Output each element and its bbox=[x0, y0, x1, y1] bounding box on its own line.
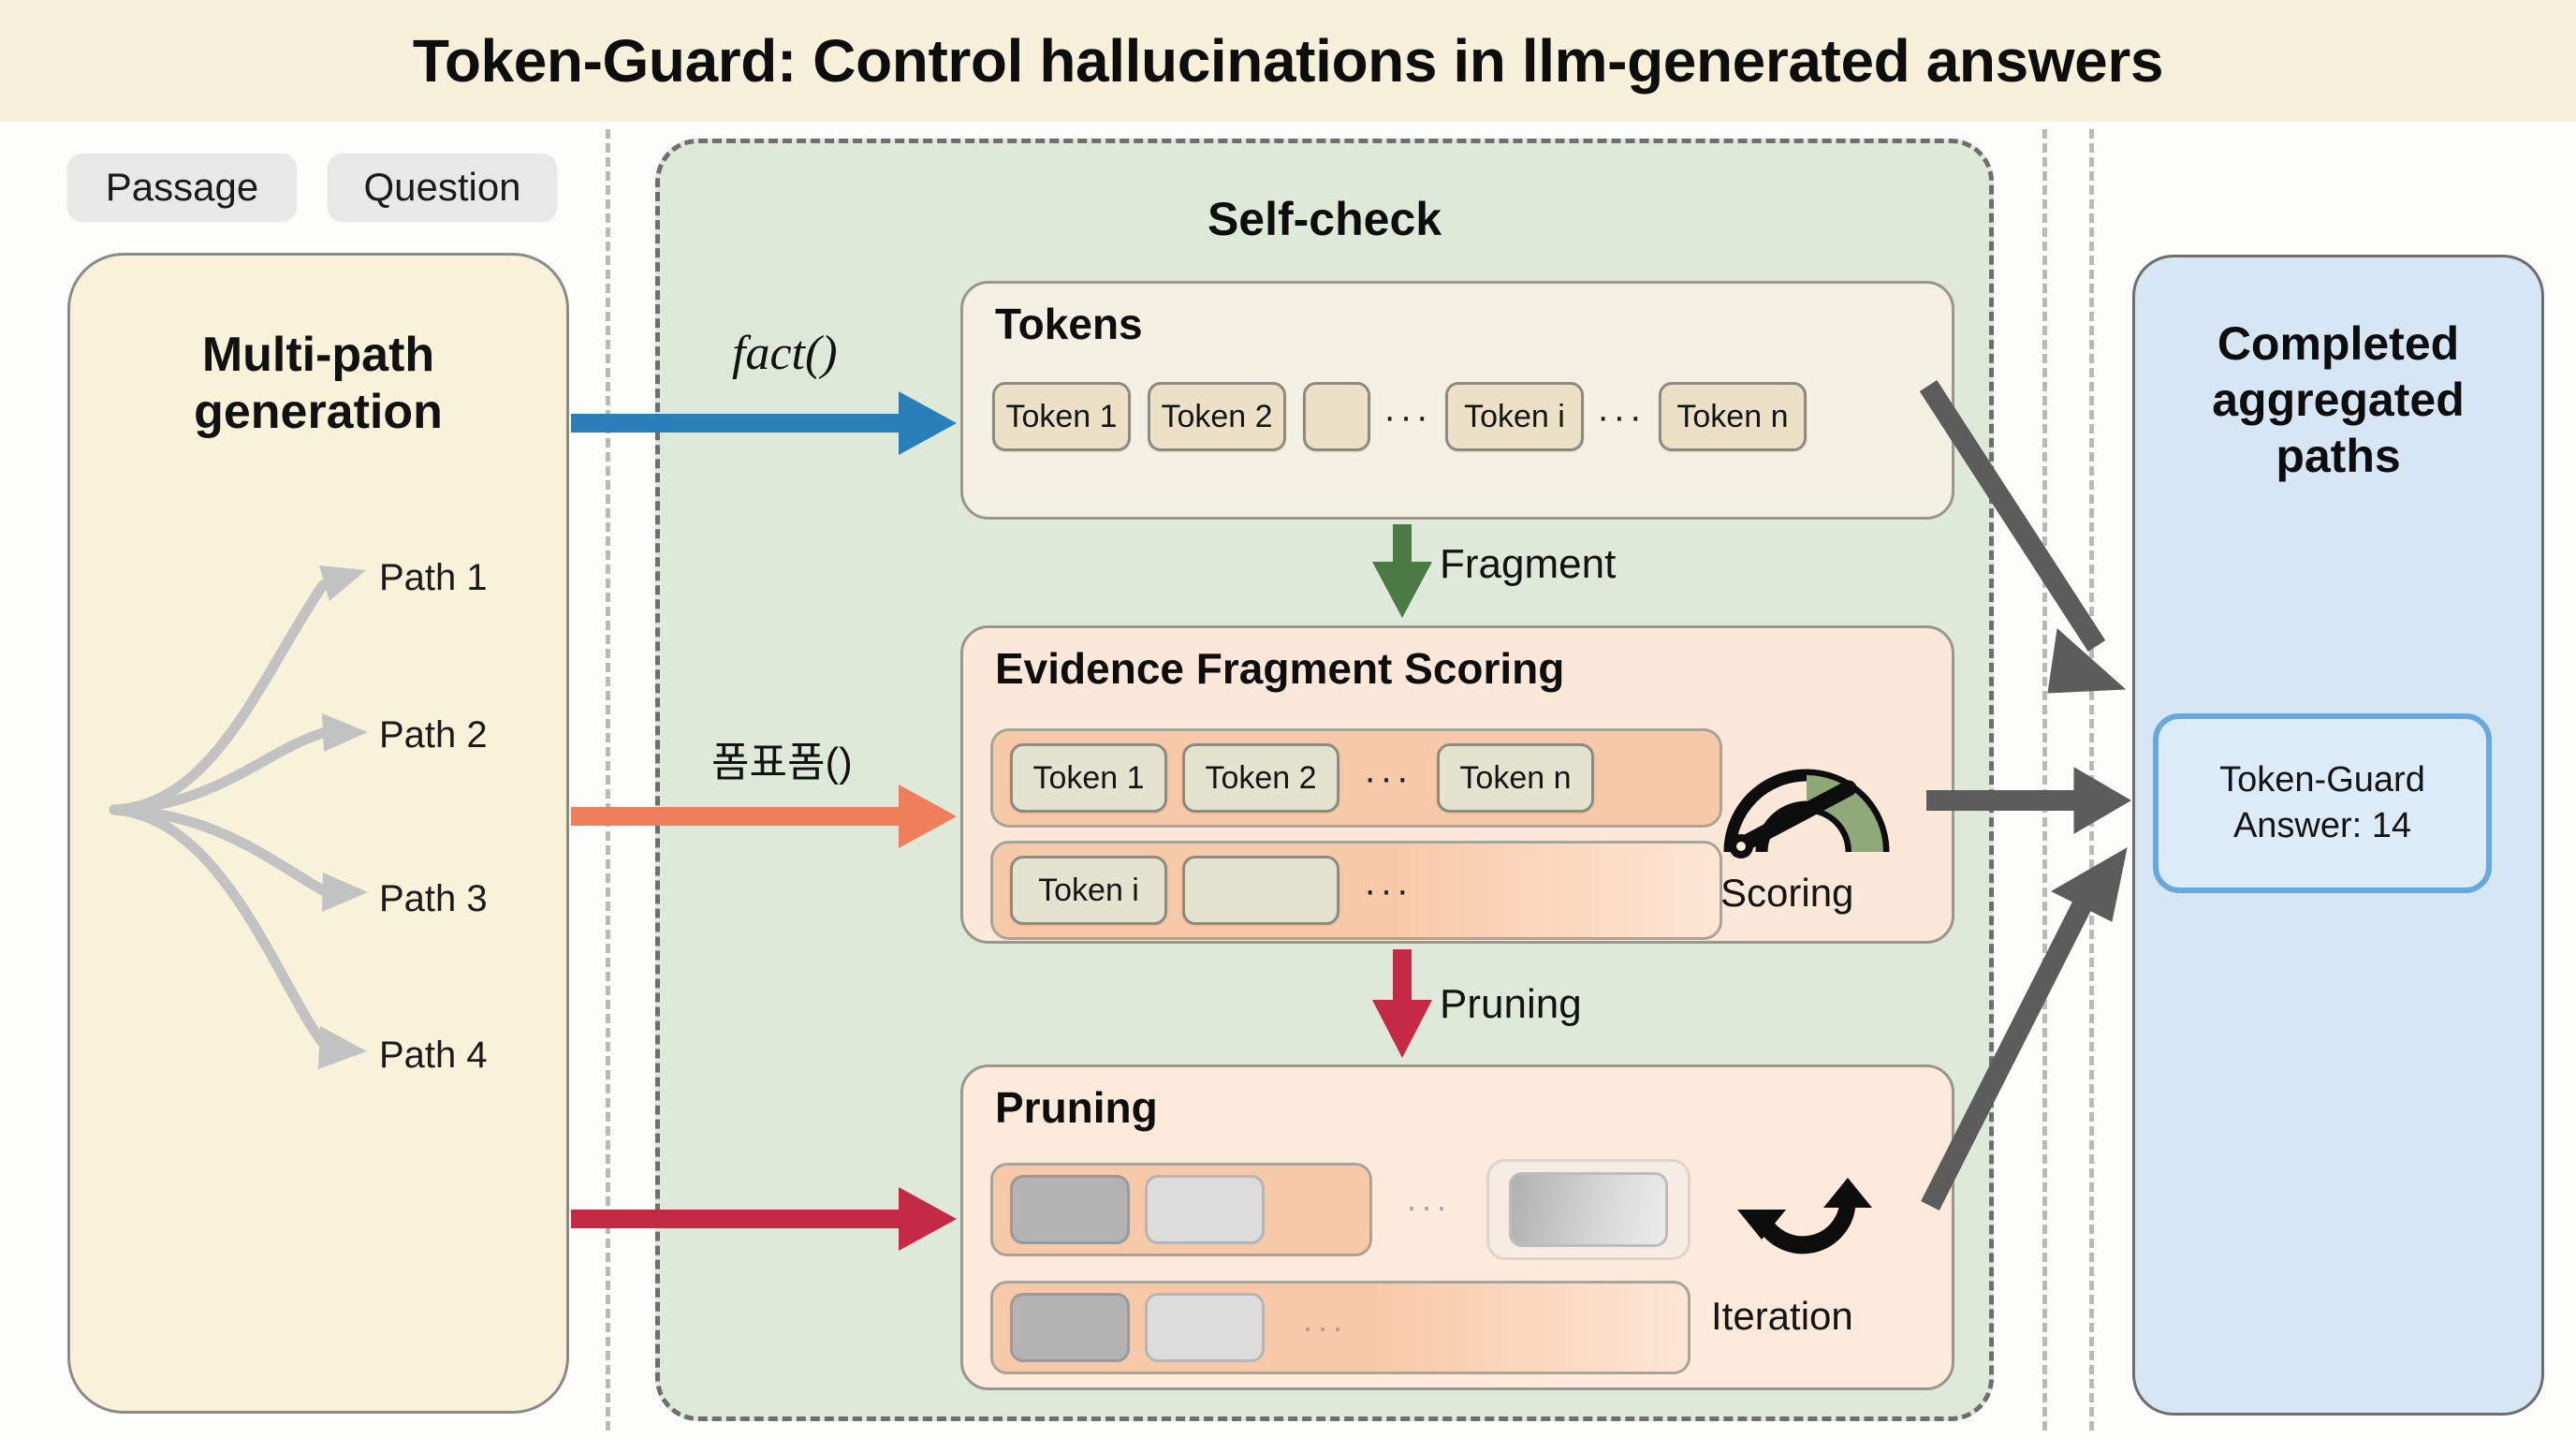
pruning-row-1 bbox=[990, 1163, 1372, 1256]
diagram-canvas: Token-Guard: Control hallucinations in l… bbox=[0, 0, 2576, 1438]
pruned-token-chip[interactable] bbox=[1010, 1293, 1130, 1362]
guide-line-left bbox=[606, 129, 610, 1431]
completed-title-line1: Completed bbox=[2135, 315, 2541, 372]
scoring-caption: Scoring bbox=[1720, 871, 1853, 916]
path-label-2: Path 2 bbox=[379, 714, 488, 756]
input-chip-question-label: Question bbox=[363, 165, 520, 210]
token-chip[interactable]: Token n bbox=[1659, 382, 1807, 451]
tokens-card-title: Tokens bbox=[995, 299, 1143, 349]
gauge-icon bbox=[1713, 732, 1900, 863]
guide-line-mid bbox=[2042, 129, 2047, 1431]
token-chip[interactable]: Token 2 bbox=[1182, 743, 1339, 813]
tokens-chip-row: Token 1 Token 2 ··· Token i ··· Token n bbox=[992, 382, 1807, 451]
token-chip[interactable]: Token 1 bbox=[1010, 743, 1167, 813]
answer-bubble-line1: Token-Guard bbox=[2219, 757, 2425, 803]
page-title: Token-Guard: Control hallucinations in l… bbox=[413, 26, 2163, 95]
multi-path-generation-panel[interactable]: Multi-path generation bbox=[67, 253, 569, 1414]
answer-bubble-line2: Answer: 14 bbox=[2233, 803, 2411, 849]
pruned-token-chip[interactable] bbox=[1010, 1175, 1130, 1244]
pruned-token-chip[interactable] bbox=[1145, 1175, 1265, 1244]
token-chip-empty[interactable] bbox=[1182, 856, 1339, 925]
evidence-row-1: Token 1 Token 2 ··· Token n bbox=[990, 728, 1722, 828]
token-chip[interactable]: Token 1 bbox=[992, 382, 1131, 451]
token-chip-empty[interactable] bbox=[1303, 382, 1370, 451]
self-check-title: Self-check bbox=[660, 192, 1989, 246]
ellipsis: ··· bbox=[1393, 1187, 1464, 1226]
pruning-row-1-tail bbox=[1486, 1159, 1690, 1260]
path-label-1: Path 1 bbox=[379, 557, 488, 599]
path-label-3: Path 3 bbox=[379, 878, 488, 920]
path-label-4: Path 4 bbox=[379, 1034, 488, 1077]
ellipsis: ··· bbox=[1339, 757, 1437, 800]
evidence-card-title: Evidence Fragment Scoring bbox=[995, 643, 1564, 694]
completed-paths-title: Completed aggregated paths bbox=[2135, 315, 2541, 484]
pruned-token-chip[interactable] bbox=[1145, 1293, 1265, 1362]
fact-arrow-label: fact() bbox=[732, 326, 838, 381]
pruning-step-label: Pruning bbox=[1440, 981, 1582, 1028]
ellipsis: ··· bbox=[1370, 396, 1445, 438]
pruning-card-title: Pruning bbox=[995, 1082, 1158, 1133]
title-banner: Token-Guard: Control hallucinations in l… bbox=[0, 0, 2576, 122]
fragment-step-label: Fragment bbox=[1440, 541, 1616, 588]
multi-path-title-line1: Multi-path bbox=[70, 327, 566, 384]
input-chip-passage-label: Passage bbox=[106, 165, 258, 210]
pruned-token-chip[interactable] bbox=[1509, 1172, 1668, 1247]
token-chip[interactable]: Token n bbox=[1437, 743, 1594, 813]
evidence-row-2: Token i ··· bbox=[990, 841, 1722, 940]
answer-speech-bubble[interactable]: Token-Guard Answer: 14 bbox=[2153, 713, 2492, 893]
token-chip[interactable]: Token 2 bbox=[1148, 382, 1286, 451]
pruning-row-2: ··· bbox=[990, 1281, 1690, 1374]
ellipsis: ··· bbox=[1339, 870, 1437, 912]
multi-path-title-line2: generation bbox=[70, 384, 566, 441]
iteration-caption: Iteration bbox=[1711, 1294, 1853, 1339]
ellipsis: ··· bbox=[1584, 396, 1659, 438]
multi-path-generation-title: Multi-path generation bbox=[70, 327, 566, 442]
guide-line-right bbox=[2089, 129, 2094, 1431]
input-chip-question[interactable]: Question bbox=[328, 154, 557, 221]
ellipsis: ··· bbox=[1265, 1308, 1384, 1347]
token-chip[interactable]: Token i bbox=[1010, 856, 1167, 925]
token-chip[interactable]: Token i bbox=[1445, 382, 1584, 451]
refresh-cycle-icon bbox=[1730, 1133, 1880, 1283]
input-chip-passage[interactable]: Passage bbox=[67, 154, 297, 221]
completed-title-line3: paths bbox=[2135, 428, 2541, 484]
completed-title-line2: aggregated bbox=[2135, 372, 2541, 428]
pomp-arrow-label: 폼표폼() bbox=[711, 728, 853, 788]
